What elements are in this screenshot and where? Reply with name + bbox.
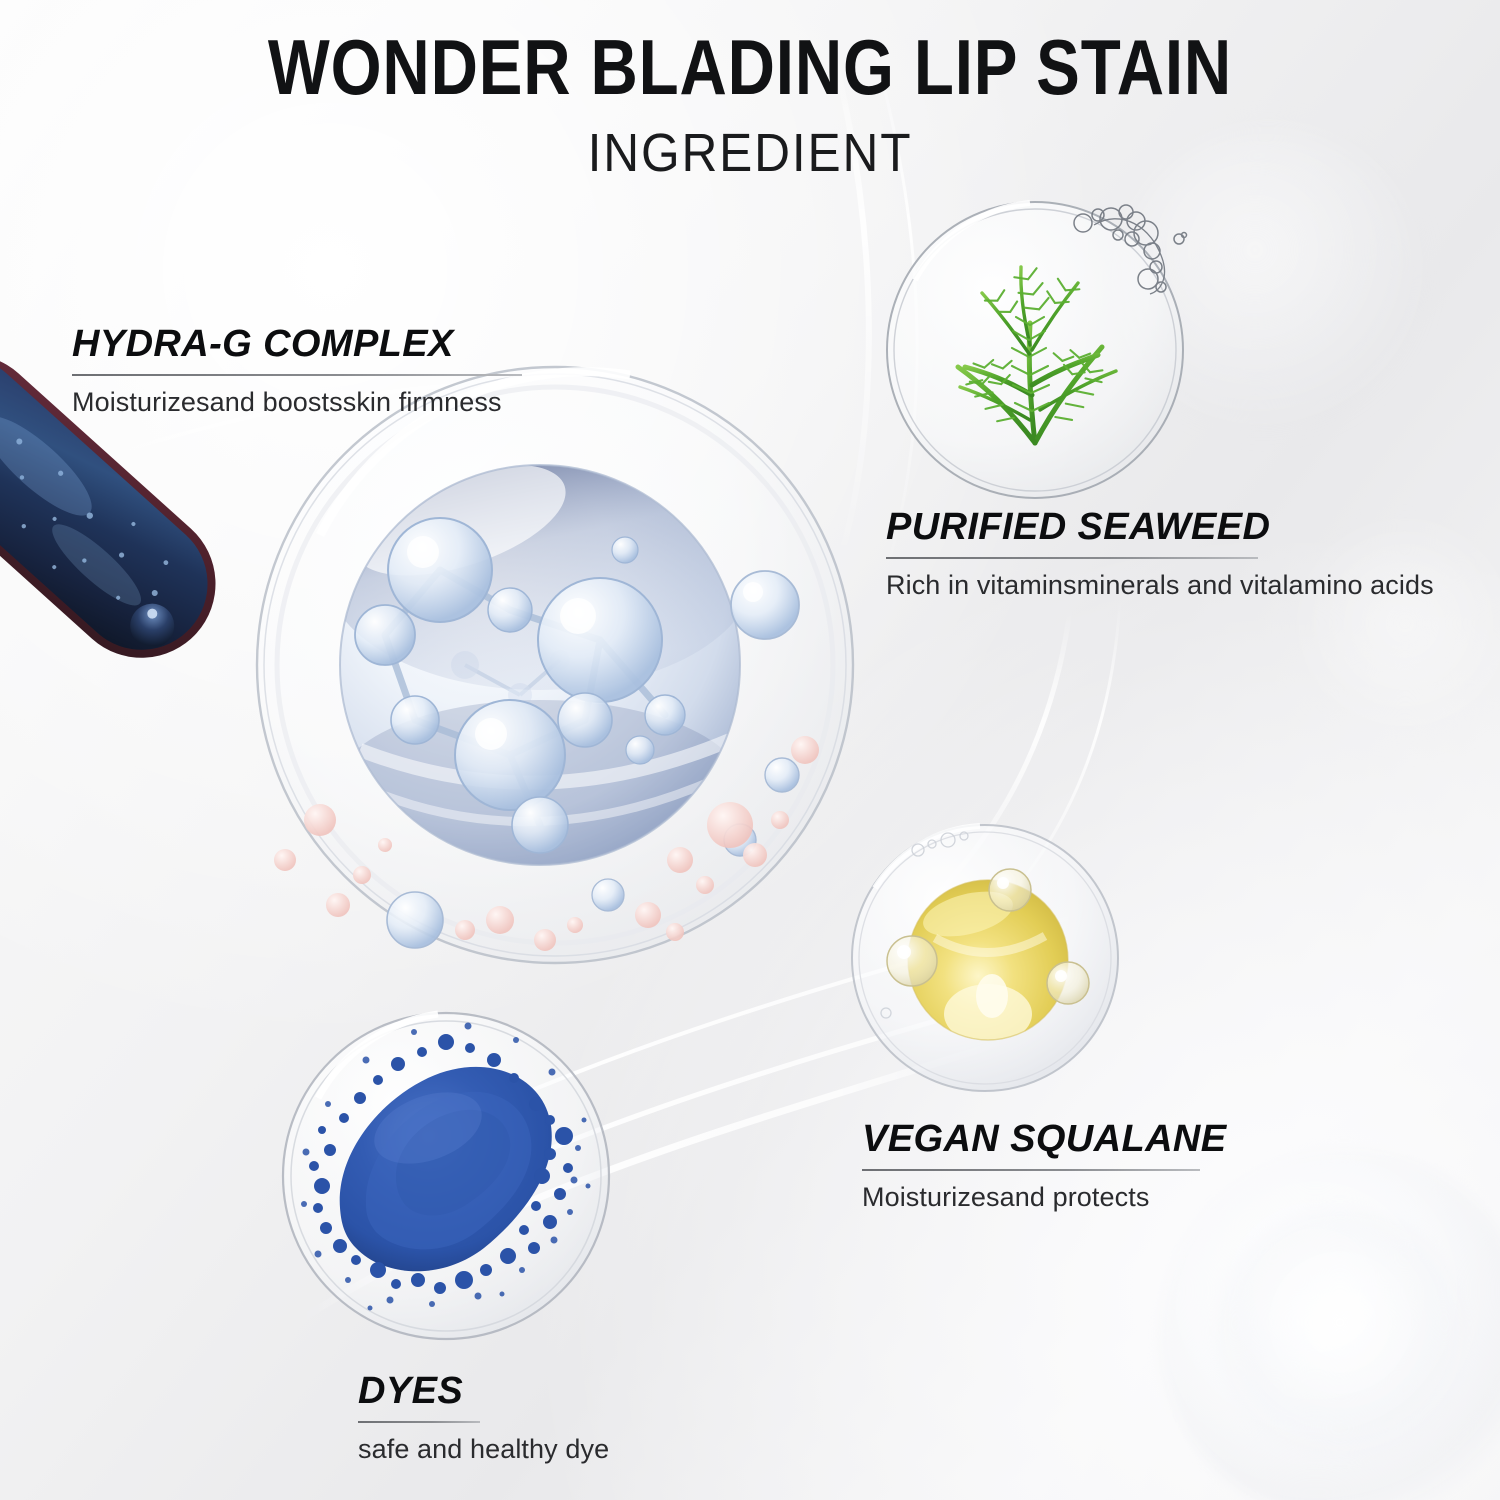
ingredient-label-hydra-g-complex: HYDRA-G COMPLEX Moisturizesand boostsski…: [72, 325, 522, 418]
label-divider: [862, 1169, 1200, 1171]
ingredient-description: Moisturizesand protects: [862, 1182, 1227, 1213]
background-bokeh-circle: [1215, 1210, 1465, 1460]
page-title: WONDER BLADING LIP STAIN: [120, 22, 1380, 113]
ingredient-label-dyes: DYES safe and healthy dye: [358, 1372, 609, 1465]
ingredient-label-purified-seaweed: PURIFIED SEAWEED Rich in vitaminsmineral…: [886, 508, 1434, 601]
dyes-visual: [278, 1008, 618, 1348]
lip-stain-applicator-wand: [0, 350, 380, 820]
label-divider: [358, 1421, 480, 1423]
infographic-canvas: WONDER BLADING LIP STAIN INGREDIENT HYDR…: [0, 0, 1500, 1500]
ingredient-name: VEGAN SQUALANE: [862, 1120, 1227, 1160]
vegan-squalane-visual: [840, 818, 1140, 1118]
ingredient-name: HYDRA-G COMPLEX: [72, 325, 522, 365]
ingredient-name: DYES: [358, 1372, 609, 1412]
ingredient-description: safe and healthy dye: [358, 1434, 609, 1465]
ingredient-name: PURIFIED SEAWEED: [886, 508, 1434, 548]
label-divider: [886, 557, 1258, 559]
purified-seaweed-visual: [880, 195, 1190, 505]
ingredient-label-vegan-squalane: VEGAN SQUALANE Moisturizesand protects: [862, 1120, 1227, 1213]
ingredient-description: Rich in vitaminsminerals and vitalamino …: [886, 570, 1434, 601]
label-divider: [72, 374, 522, 376]
page-subtitle: INGREDIENT: [60, 122, 1440, 184]
ingredient-description: Moisturizesand boostsskin firmness: [72, 387, 522, 418]
